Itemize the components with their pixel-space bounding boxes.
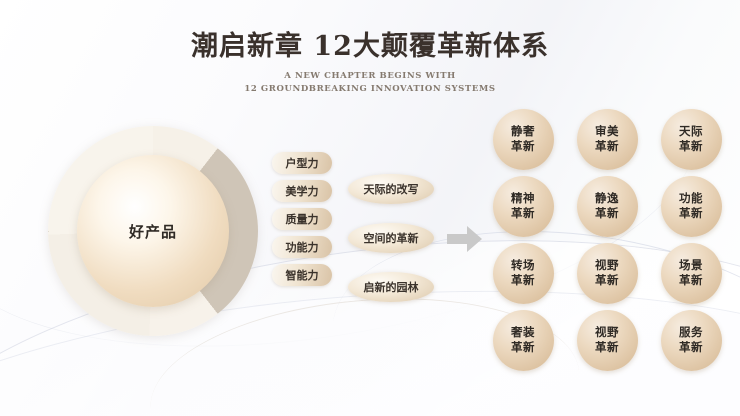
- innovation-grid: 静奢革新 审美革新 天际革新 精神革新 静逸革新 功能革新 转场革新 视野革新 …: [489, 109, 725, 371]
- innovation-line-1: 视野: [595, 326, 619, 341]
- capability-pill[interactable]: 功能力: [272, 236, 332, 258]
- innovation-node[interactable]: 服务革新: [661, 310, 722, 371]
- innovation-line-1: 天际: [679, 125, 703, 140]
- innovation-line-1: 服务: [679, 326, 703, 341]
- capability-label: 质量力: [286, 211, 319, 227]
- innovation-line-2: 革新: [679, 140, 703, 155]
- innovation-line-2: 革新: [679, 207, 703, 222]
- innovation-node[interactable]: 功能革新: [661, 176, 722, 237]
- capability-pill[interactable]: 智能力: [272, 264, 332, 286]
- donut-chart: 好产品: [48, 126, 258, 336]
- innovation-node[interactable]: 奢装革新: [493, 310, 554, 371]
- capability-pill[interactable]: 美学力: [272, 180, 332, 202]
- capability-pill[interactable]: 户型力: [272, 152, 332, 174]
- innovation-line-2: 革新: [595, 207, 619, 222]
- theme-ellipse[interactable]: 空间的革新: [348, 223, 434, 253]
- innovation-line-2: 革新: [595, 341, 619, 356]
- innovation-node[interactable]: 视野革新: [577, 310, 638, 371]
- innovation-line-2: 革新: [595, 140, 619, 155]
- capability-label: 美学力: [286, 183, 319, 199]
- theme-ellipse[interactable]: 启新的园林: [348, 272, 434, 302]
- innovation-node[interactable]: 场景革新: [661, 243, 722, 304]
- innovation-line-2: 革新: [511, 207, 535, 222]
- innovation-line-2: 革新: [511, 341, 535, 356]
- innovation-line-1: 场景: [679, 259, 703, 274]
- innovation-line-1: 静逸: [595, 192, 619, 207]
- innovation-line-2: 革新: [511, 274, 535, 289]
- innovation-node[interactable]: 精神革新: [493, 176, 554, 237]
- slide-canvas: 潮启新章 12大颠覆革新体系 A NEW CHAPTER BEGINS WITH…: [0, 0, 740, 416]
- innovation-node[interactable]: 转场革新: [493, 243, 554, 304]
- theme-ellipse[interactable]: 天际的改写: [348, 174, 434, 204]
- innovation-line-1: 转场: [511, 259, 535, 274]
- capability-label: 户型力: [286, 155, 319, 171]
- arrow-right-icon: [447, 225, 483, 258]
- donut-core: 好产品: [77, 155, 229, 307]
- capability-label: 智能力: [286, 267, 319, 283]
- innovation-line-1: 功能: [679, 192, 703, 207]
- capability-label: 功能力: [286, 239, 319, 255]
- innovation-node[interactable]: 视野革新: [577, 243, 638, 304]
- page-title: 潮启新章 12大颠覆革新体系: [0, 30, 740, 64]
- innovation-line-2: 革新: [679, 341, 703, 356]
- innovation-line-2: 革新: [679, 274, 703, 289]
- innovation-node[interactable]: 静逸革新: [577, 176, 638, 237]
- innovation-node[interactable]: 天际革新: [661, 109, 722, 170]
- innovation-line-1: 静奢: [511, 125, 535, 140]
- innovation-node[interactable]: 静奢革新: [493, 109, 554, 170]
- theme-label: 空间的革新: [364, 230, 419, 246]
- theme-label: 天际的改写: [364, 181, 419, 197]
- subtitle-line-1: A NEW CHAPTER BEGINS WITH: [0, 71, 740, 81]
- slide-header: 潮启新章 12大颠覆革新体系 A NEW CHAPTER BEGINS WITH…: [0, 30, 740, 94]
- donut-core-label: 好产品: [129, 221, 177, 242]
- theme-list: 天际的改写 空间的革新 启新的园林: [348, 174, 434, 321]
- innovation-line-1: 精神: [511, 192, 535, 207]
- innovation-line-1: 视野: [595, 259, 619, 274]
- innovation-line-2: 革新: [511, 140, 535, 155]
- subtitle-line-2: 12 GROUNDBREAKING INNOVATION SYSTEMS: [0, 84, 740, 94]
- innovation-node[interactable]: 审美革新: [577, 109, 638, 170]
- capability-pill[interactable]: 质量力: [272, 208, 332, 230]
- innovation-line-2: 革新: [595, 274, 619, 289]
- capability-list: 户型力 美学力 质量力 功能力 智能力: [272, 152, 332, 292]
- innovation-line-1: 奢装: [511, 326, 535, 341]
- theme-label: 启新的园林: [364, 279, 419, 295]
- innovation-line-1: 审美: [595, 125, 619, 140]
